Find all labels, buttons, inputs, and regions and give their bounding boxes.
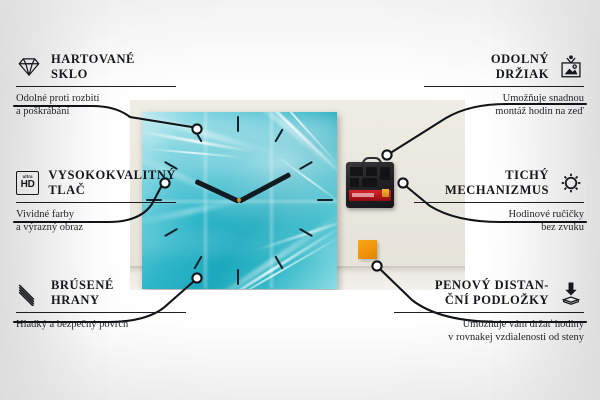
ultra-hd-icon-large-text: HD — [21, 180, 35, 190]
feature-title-line2: MECHANIZMUS — [445, 183, 549, 198]
picture-hanger-icon — [558, 54, 584, 80]
feature-desc-line2: a poškrábání — [16, 105, 176, 118]
feature-desc-line1: Vividné farby — [16, 208, 176, 221]
feature-silent-mechanism: TICHÝ MECHANIZMUS Hodinové ručičky bez z… — [414, 168, 584, 234]
feature-high-quality-print: ultra HD VYSOKOKVALITNÝ TLAČ Vividné far… — [16, 168, 176, 234]
feature-desc-line1: Hodinové ručičky — [414, 208, 584, 221]
feature-divider — [16, 86, 176, 87]
feature-title-line2: ČNÍ PODLOŽKY — [435, 293, 549, 308]
feature-title-line1: VYSOKOKVALITNÝ — [48, 168, 176, 183]
gear-icon — [558, 170, 584, 196]
feature-title-line2: SKLO — [51, 67, 135, 82]
feature-desc-line1: Umožňuje snadnou — [424, 92, 584, 105]
ground-edges-icon — [16, 280, 42, 306]
hotspot-mechanism[interactable] — [398, 178, 407, 187]
feature-desc-line2: a výrazný obraz — [16, 221, 176, 234]
feature-desc-line1: Umožňuje vám držať hodiny — [394, 318, 584, 331]
feature-ground-edges: BRÚSENÉ HRANY Hladký a bezpečný povrch — [16, 278, 186, 331]
feature-divider — [16, 202, 176, 203]
feature-title-line2: HRANY — [51, 293, 114, 308]
spacer-pads-icon — [558, 280, 584, 306]
hotspot-edges[interactable] — [192, 273, 201, 282]
feature-foam-spacers: PENOVÝ DISTAN- ČNÍ PODLOŽKY Umožňuje vám… — [394, 278, 584, 344]
hotspot-hanger[interactable] — [382, 150, 391, 159]
feature-desc-line2: v rovnakej vzdialenosti od steny — [394, 331, 584, 344]
feature-title-line1: TICHÝ — [445, 168, 549, 183]
feature-desc-line2: montáž hodin na zeď — [424, 105, 584, 118]
feature-desc-line1: Hladký a bezpečný povrch — [16, 318, 186, 331]
diamond-icon — [16, 54, 42, 80]
feature-divider — [394, 312, 584, 313]
feature-divider — [414, 202, 584, 203]
feature-title-line2: DRŽIAK — [491, 67, 549, 82]
ultra-hd-icon: ultra HD — [16, 171, 39, 195]
feature-tempered-glass: HARTOVANÉ SKLO Odolné proti rozbití a po… — [16, 52, 176, 118]
feature-durable-hanger: ODOLNÝ DRŽIAK Umožňuje snadnou montáž ho… — [424, 52, 584, 118]
feature-desc-line2: bez zvuku — [414, 221, 584, 234]
hotspot-spacer[interactable] — [372, 261, 381, 270]
feature-title-line1: PENOVÝ DISTAN- — [435, 278, 549, 293]
hotspot-glass[interactable] — [192, 124, 201, 133]
feature-desc-line1: Odolné proti rozbití — [16, 92, 176, 105]
feature-title-line1: BRÚSENÉ — [51, 278, 114, 293]
feature-title-line1: ODOLNÝ — [491, 52, 549, 67]
feature-divider — [16, 312, 186, 313]
feature-divider — [424, 86, 584, 87]
infographic-canvas: HARTOVANÉ SKLO Odolné proti rozbití a po… — [0, 0, 600, 400]
feature-title-line2: TLAČ — [48, 183, 176, 198]
feature-title-line1: HARTOVANÉ — [51, 52, 135, 67]
